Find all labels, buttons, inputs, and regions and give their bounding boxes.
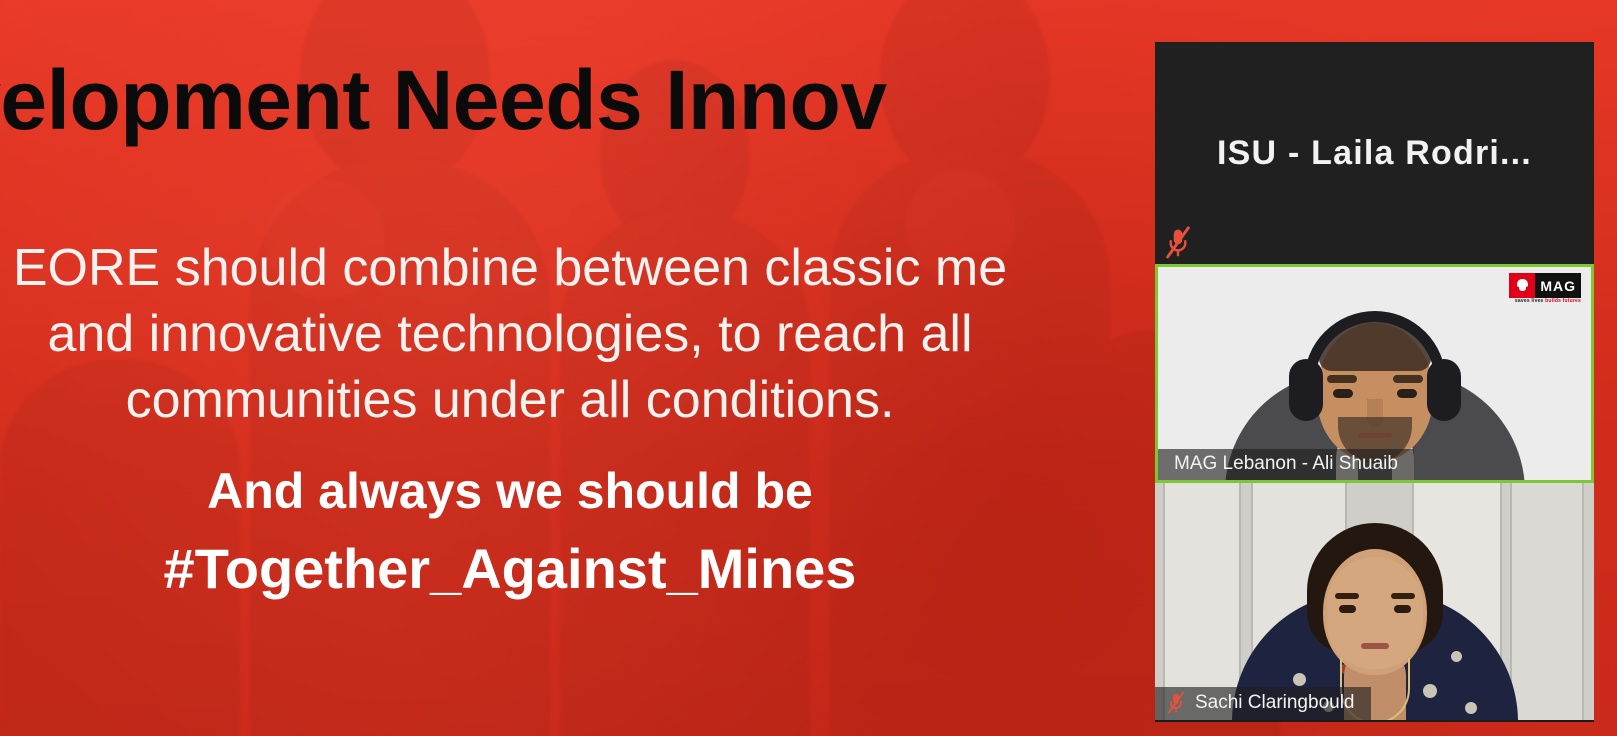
participant-name-label: MAG Lebanon - Ali Shuaib xyxy=(1174,453,1398,475)
mag-wordmark: MAG xyxy=(1535,273,1581,298)
zoom-video-panel[interactable]: ISU - Laila Rodri... xyxy=(1155,42,1594,722)
mag-tagline-red: builds futures xyxy=(1545,298,1581,304)
mag-tagline-black: saves lives xyxy=(1515,298,1544,304)
participant-tile-sachi-claringbould[interactable]: Sachi Claringbould xyxy=(1155,483,1594,720)
participant-name-bar-ali-shuaib: MAG Lebanon - Ali Shuaib xyxy=(1158,449,1414,480)
video-feed-sachi-claringbould xyxy=(1155,483,1594,720)
participant-name-bar-sachi-claringbould: Sachi Claringbould xyxy=(1155,687,1371,720)
slide-body-line-3: communities under all conditions. xyxy=(0,367,1170,433)
slide-body-line-1: EORE should combine between classic me xyxy=(0,235,1170,301)
mag-logo: MAG xyxy=(1509,273,1581,298)
participant-tile-isu-laila[interactable]: ISU - Laila Rodri... xyxy=(1155,42,1594,264)
participant-tile-ali-shuaib[interactable]: MAG saves lives builds futures MAG Leban… xyxy=(1155,264,1594,483)
participant-name-large: ISU - Laila Rodri... xyxy=(1203,134,1546,173)
slide-hashtag: #Together_Against_Mines xyxy=(0,530,1170,608)
mag-skull-icon xyxy=(1509,273,1535,298)
slide-body-text: EORE should combine between classic me a… xyxy=(0,235,1170,433)
slide-callout-line-1: And always we should be xyxy=(0,452,1170,530)
slide-callout-text: And always we should be #Together_Agains… xyxy=(0,452,1170,608)
mic-muted-icon xyxy=(1166,691,1186,715)
participant-name-label: Sachi Claringbould xyxy=(1195,692,1355,714)
mic-muted-icon xyxy=(1163,226,1193,260)
slide-body-line-2: and innovative technologies, to reach al… xyxy=(0,301,1170,367)
mag-tagline: saves lives builds futures xyxy=(1515,298,1581,304)
slide-title: evelopment Needs Innov xyxy=(0,52,1208,149)
